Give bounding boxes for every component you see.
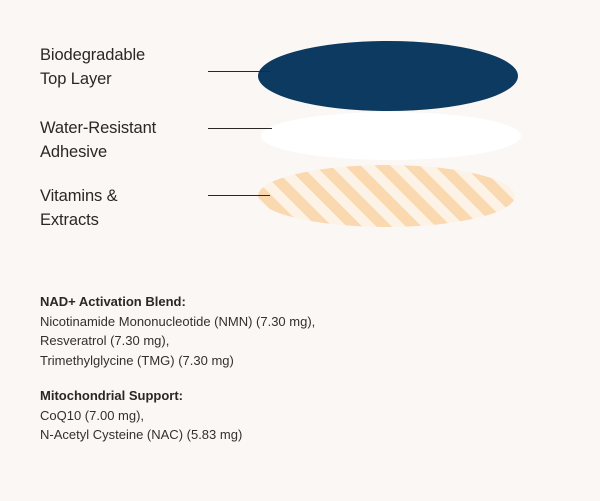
ingredient-item: Nicotinamide Mononucleotide (NMN) (7.30 …: [40, 312, 460, 332]
callout-label-water-resistant-adhesive: Water-Resistant Adhesive: [40, 116, 205, 164]
callout-line-1: Biodegradable: [40, 43, 205, 67]
patch-layer-diagram: Biodegradable Top Layer Water-Resistant …: [0, 0, 600, 501]
callout-line-1: Vitamins &: [40, 184, 205, 208]
callout-line-2: Top Layer: [40, 67, 205, 91]
layer-shape-vitamins-extracts: [258, 165, 515, 227]
ingredient-panel: NAD+ Activation Blend: Nicotinamide Mono…: [40, 292, 460, 445]
ingredient-item: CoQ10 (7.00 mg),: [40, 406, 460, 426]
ingredient-item: Resveratrol (7.30 mg),: [40, 331, 460, 351]
callout-line-2: Adhesive: [40, 140, 205, 164]
callout-line-1: Water-Resistant: [40, 116, 205, 140]
ingredient-item: N-Acetyl Cysteine (NAC) (5.83 mg): [40, 425, 460, 445]
callout-label-vitamins-extracts: Vitamins & Extracts: [40, 184, 205, 232]
ingredient-group-nad-activation-blend: NAD+ Activation Blend: Nicotinamide Mono…: [40, 292, 460, 370]
ingredient-group-mitochondrial-support: Mitochondrial Support: CoQ10 (7.00 mg), …: [40, 386, 460, 445]
leader-line-water-resistant-adhesive: [208, 128, 272, 129]
callout-line-2: Extracts: [40, 208, 205, 232]
ingredient-group-heading: NAD+ Activation Blend:: [40, 292, 460, 312]
layer-stack-graphic: [250, 30, 540, 240]
ingredient-group-heading: Mitochondrial Support:: [40, 386, 460, 406]
leader-line-vitamins-extracts: [208, 195, 270, 196]
callout-label-biodegradable-top-layer: Biodegradable Top Layer: [40, 43, 205, 91]
layer-shape-biodegradable-top: [258, 41, 518, 111]
layer-shape-water-resistant-adhesive: [261, 112, 521, 160]
ingredient-item: Trimethylglycine (TMG) (7.30 mg): [40, 351, 460, 371]
leader-line-biodegradable-top-layer: [208, 71, 270, 72]
